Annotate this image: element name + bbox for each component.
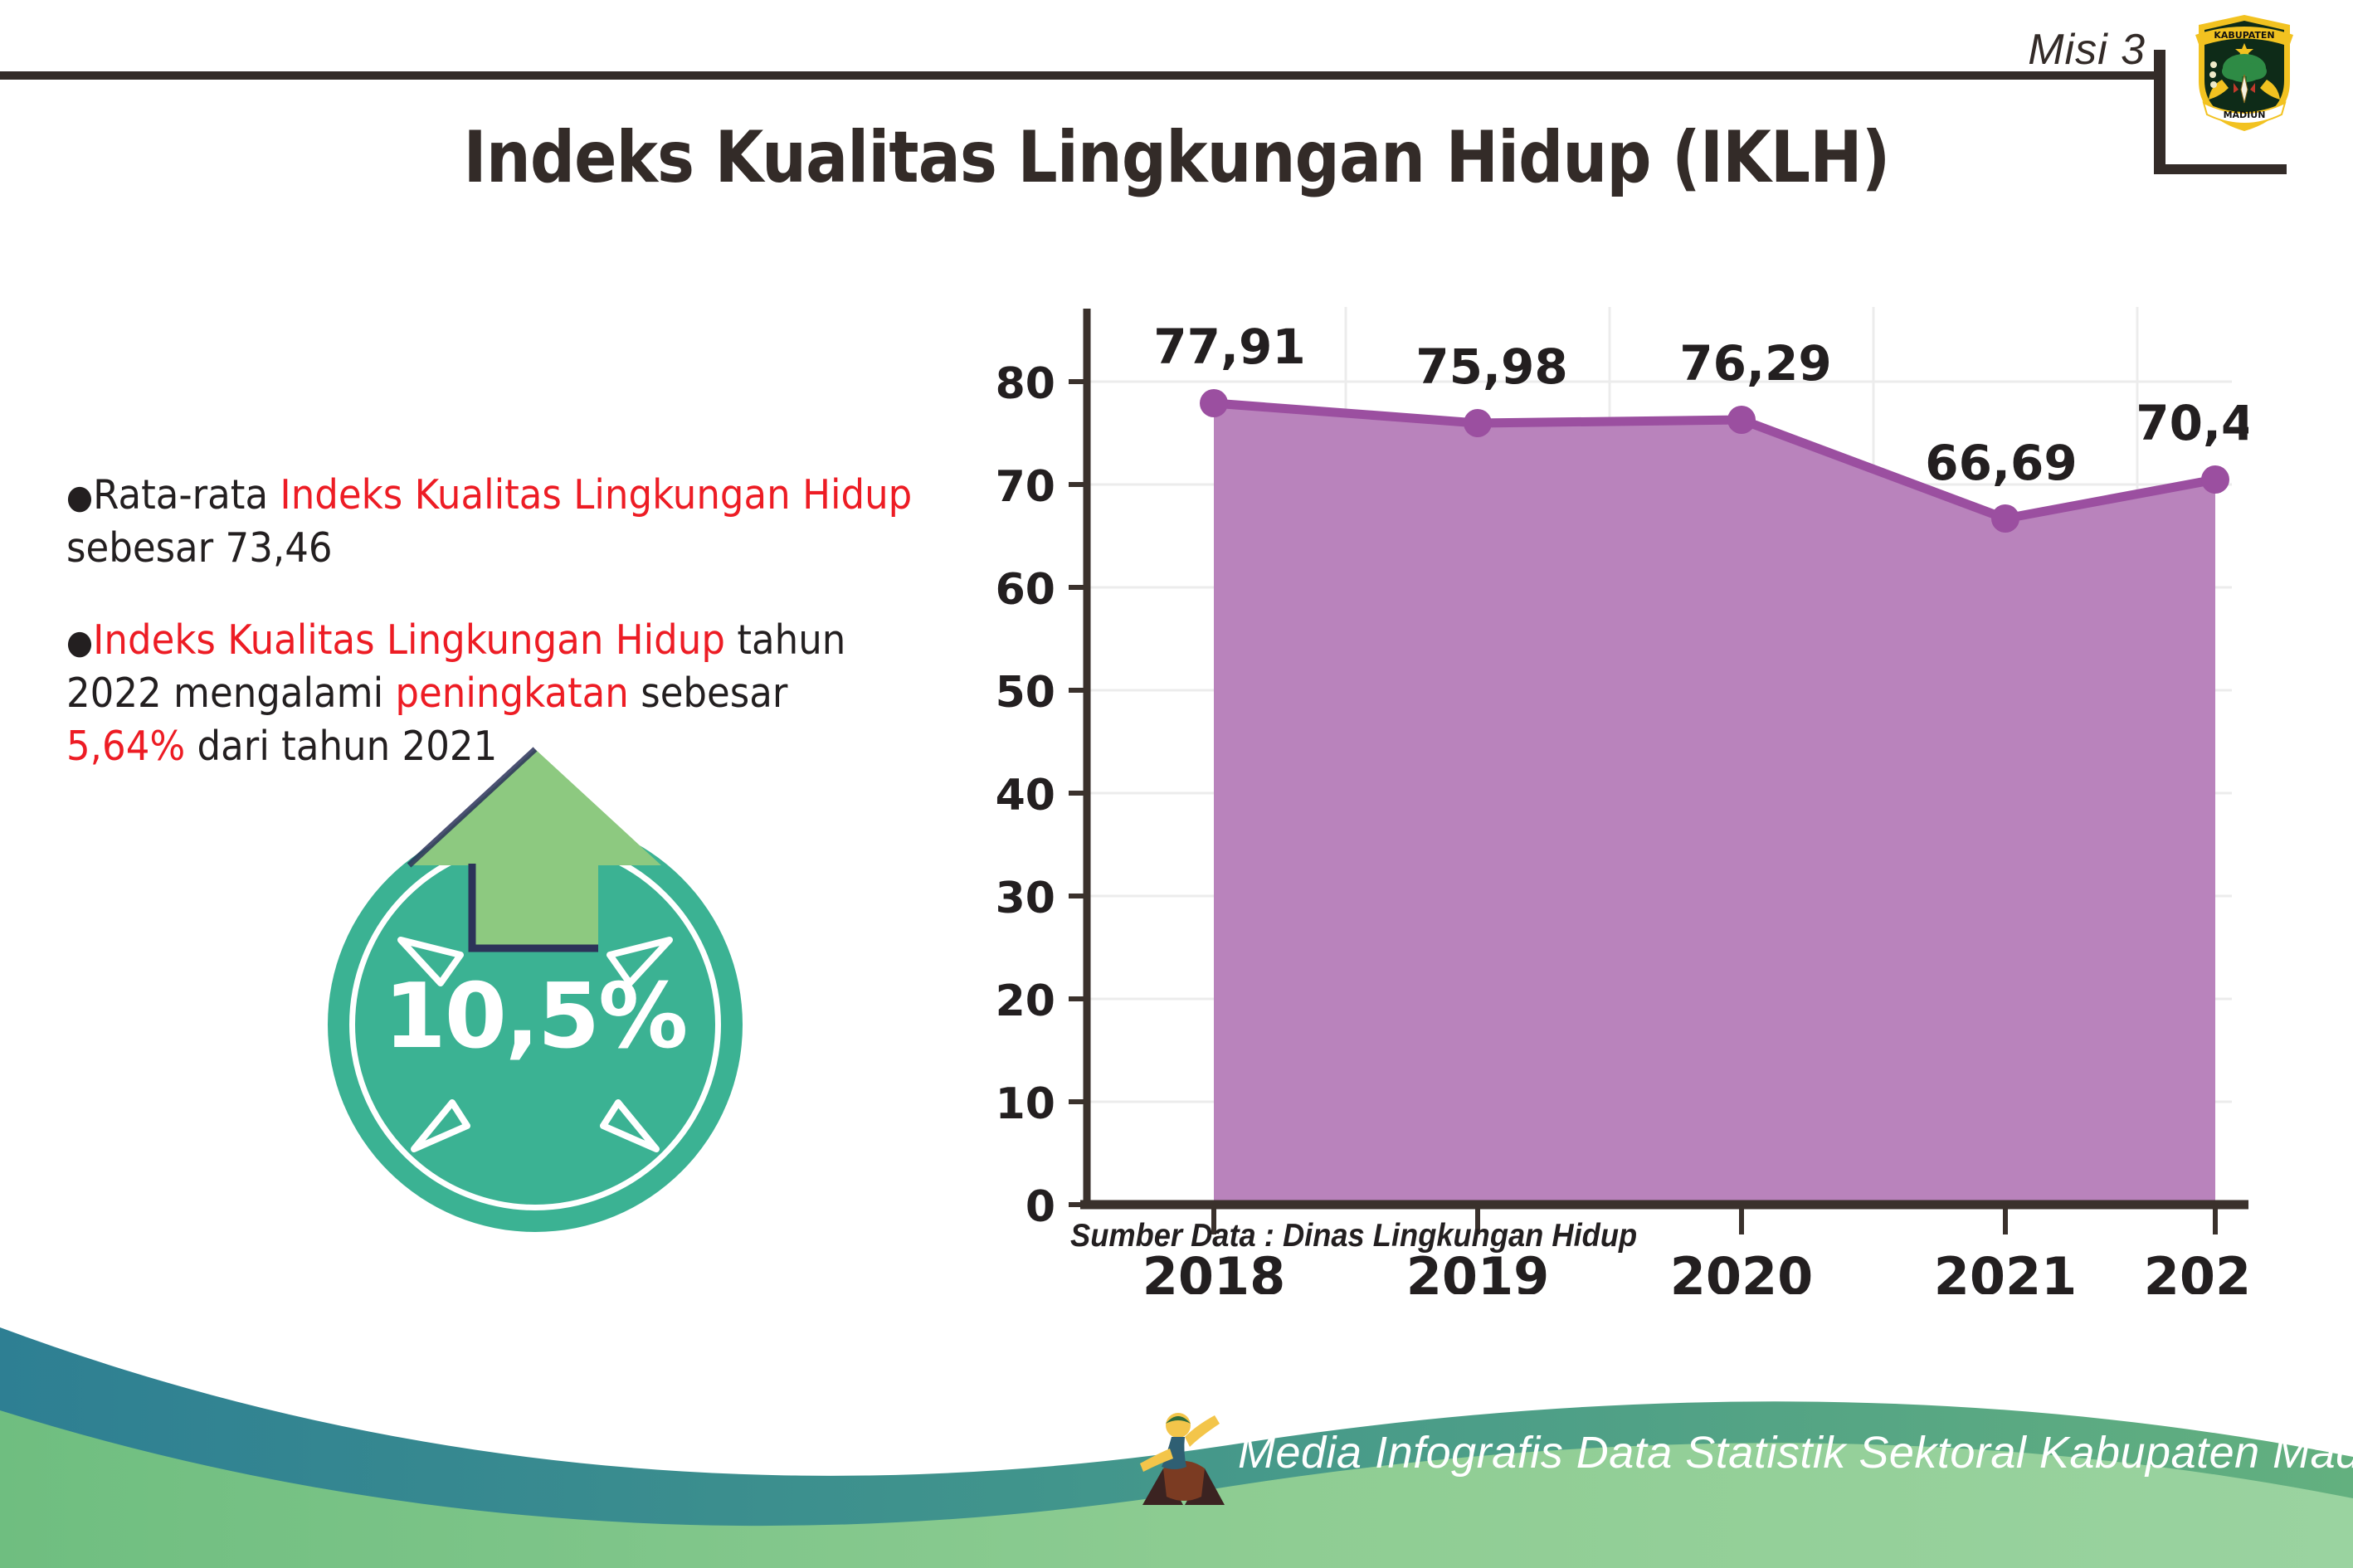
bullet-2-highlight-3: 5,64% xyxy=(66,723,185,770)
badge-value: 10,5% xyxy=(328,965,743,1069)
data-label: 75,98 xyxy=(1415,338,1567,395)
footer-text: Media Infografis Data Statistik Sektoral… xyxy=(1238,1427,2353,1478)
bullet-dot-icon: ● xyxy=(66,624,93,662)
y-tick-label: 20 xyxy=(996,976,1055,1026)
page-title: Indeks Kualitas Lingkungan Hidup (IKLH) xyxy=(141,116,2212,199)
y-tick-label: 40 xyxy=(996,771,1055,821)
narrative-bullet-1: ●Rata-rata Indeks Kualitas Lingkungan Hi… xyxy=(66,469,913,574)
logo-top-banner-text: KABUPATEN xyxy=(2214,30,2274,41)
chart-panel: 80 70 60 50 40 30 20 10 0 2018 2019 2020… xyxy=(954,274,2248,1294)
iklh-area-chart: 80 70 60 50 40 30 20 10 0 2018 2019 2020… xyxy=(954,274,2248,1294)
bullet-dot-icon: ● xyxy=(66,479,93,517)
y-tick-label: 60 xyxy=(996,565,1055,615)
logo-bottom-banner-text: MADIUN xyxy=(2224,110,2266,120)
y-tick-label: 80 xyxy=(996,359,1055,409)
y-tick-label: 10 xyxy=(996,1079,1055,1129)
bullet-2-highlight-2: peningkatan xyxy=(395,670,628,717)
data-label: 76,29 xyxy=(1679,335,1831,392)
data-label: 66,69 xyxy=(1925,435,2077,491)
y-tick-label: 70 xyxy=(996,462,1055,512)
y-tick-label: 30 xyxy=(996,874,1055,923)
chart-y-tick-labels: 80 70 60 50 40 30 20 10 0 xyxy=(996,359,1055,1232)
y-tick-label: 0 xyxy=(1025,1182,1055,1232)
x-tick-label: 2021 xyxy=(1934,1246,2078,1294)
chart-source-note: Sumber Data : Dinas Lingkungan Hidup xyxy=(1070,1218,1637,1254)
misi-label: Misi 3 xyxy=(2028,25,2146,75)
bullet-2-mid-2: sebesar xyxy=(629,670,788,717)
bullet-1-post: sebesar 73,46 xyxy=(66,524,333,572)
x-tick-label: 2022 xyxy=(2144,1246,2248,1294)
y-tick-label: 50 xyxy=(996,668,1055,718)
x-tick-label: 2020 xyxy=(1670,1246,1814,1294)
data-label: 77,91 xyxy=(1153,319,1305,375)
data-label: 70,45 xyxy=(2136,395,2248,451)
bullet-1-pre: Rata-rata xyxy=(93,471,280,519)
bullet-2-highlight-1: Indeks Kualitas Lingkungan Hidup xyxy=(93,616,725,664)
growth-badge: 10,5% xyxy=(328,817,743,1232)
bullet-1-highlight: Indeks Kualitas Lingkungan Hidup xyxy=(280,471,912,519)
header-divider-rule xyxy=(0,71,2160,80)
pencak-silat-dancer-icon xyxy=(1138,1397,1230,1520)
chart-area-fill xyxy=(1214,403,2215,1205)
